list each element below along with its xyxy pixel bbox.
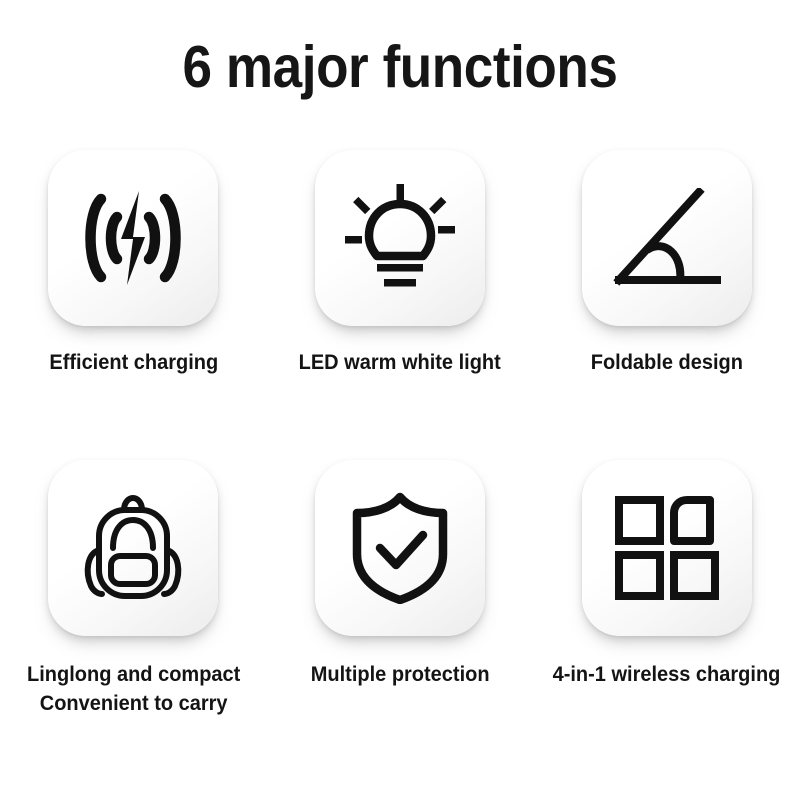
four-squares-grid-icon xyxy=(615,496,719,600)
angle-icon xyxy=(613,188,721,288)
feature-label: Linglong and compact Convenient to carry xyxy=(27,660,240,718)
feature-item-efficient-charging[interactable]: Efficient charging xyxy=(0,140,267,450)
feature-highlight-page: 6 major functions xyxy=(0,0,800,800)
icon-card[interactable] xyxy=(582,150,752,326)
feature-item-4-in-1-wireless-charging[interactable]: 4-in-1 wireless charging xyxy=(533,450,800,760)
icon-card[interactable] xyxy=(315,150,485,326)
feature-label: 4-in-1 wireless charging xyxy=(553,660,781,689)
feature-row-2: Linglong and compact Convenient to carry… xyxy=(0,450,800,760)
page-title: 6 major functions xyxy=(40,34,760,100)
feature-item-linglong-compact[interactable]: Linglong and compact Convenient to carry xyxy=(0,450,267,760)
icon-card[interactable] xyxy=(582,460,752,636)
feature-grid: Efficient charging xyxy=(0,140,800,760)
feature-label: LED warm white light xyxy=(299,348,501,377)
icon-card[interactable] xyxy=(48,460,218,636)
feature-label: Efficient charging xyxy=(49,348,218,377)
wireless-charging-icon xyxy=(79,189,187,287)
feature-label: Multiple protection xyxy=(311,660,490,689)
feature-item-multiple-protection[interactable]: Multiple protection xyxy=(267,450,534,760)
backpack-icon xyxy=(77,492,189,604)
feature-item-foldable-design[interactable]: Foldable design xyxy=(533,140,800,450)
light-bulb-icon xyxy=(345,184,455,292)
icon-card[interactable] xyxy=(315,460,485,636)
feature-item-led-warm-white-light[interactable]: LED warm white light xyxy=(267,140,534,450)
feature-row-1: Efficient charging xyxy=(0,140,800,450)
icon-card[interactable] xyxy=(48,150,218,326)
shield-check-icon xyxy=(347,492,453,604)
feature-label: Foldable design xyxy=(591,348,743,377)
